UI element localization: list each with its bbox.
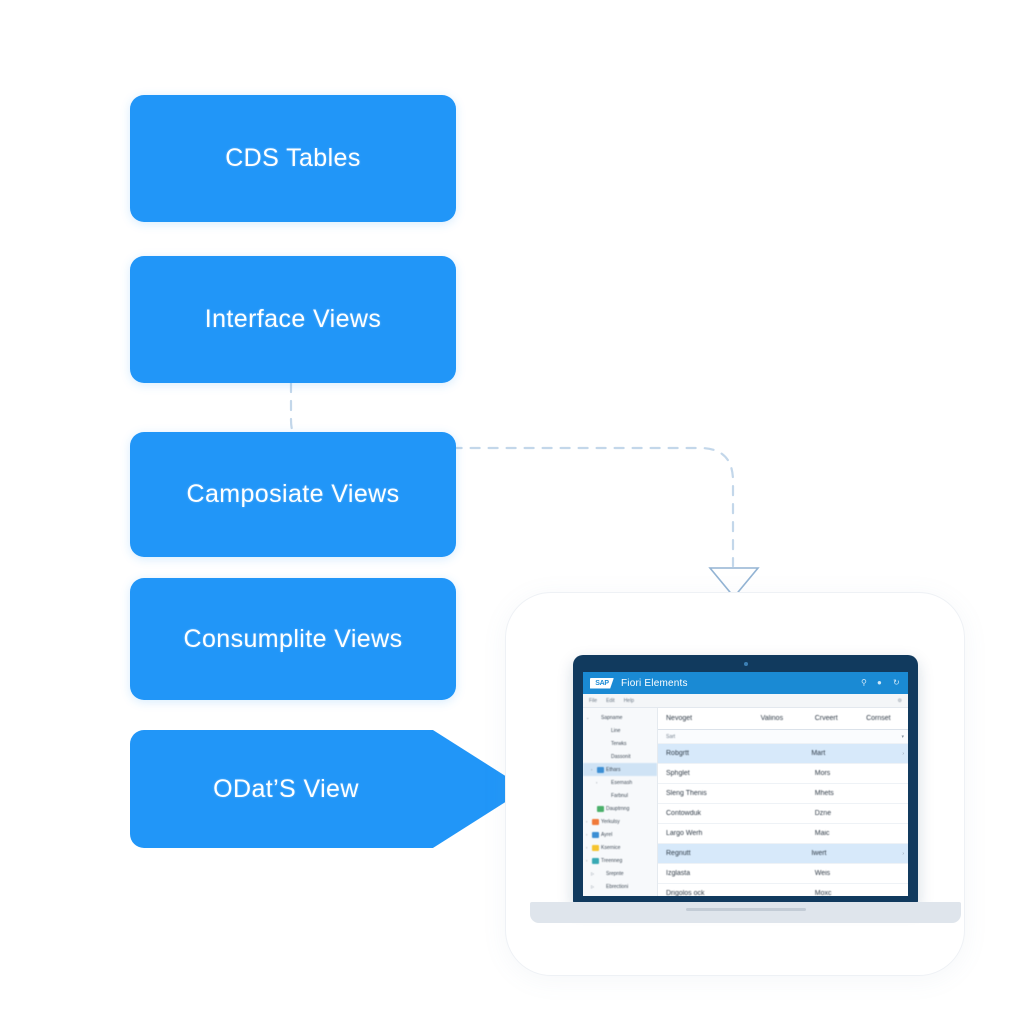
- tree-node-label: Ayrel: [601, 832, 612, 838]
- tree-node[interactable]: Terwks: [583, 737, 657, 750]
- tree-node[interactable]: Line: [583, 724, 657, 737]
- tree-node[interactable]: ›Ethars: [583, 763, 657, 776]
- settings-icon[interactable]: ⚙: [898, 698, 902, 704]
- tree-twisty-icon[interactable]: ›: [586, 819, 590, 824]
- tree-node-label: Farbnul: [611, 793, 628, 799]
- folder-icon: [597, 884, 604, 890]
- tree-node-label: Ebrectioni: [606, 884, 628, 890]
- column-header[interactable]: Valinos: [753, 715, 807, 722]
- tree-node[interactable]: ▷Srepnte: [583, 867, 657, 880]
- tree-node-label: Sapname: [601, 715, 622, 721]
- webcam-icon: [744, 662, 748, 666]
- laptop-mockup: SAP Fiori Elements ⚲ ● ↻ File Edit Help …: [573, 655, 918, 923]
- tree-node[interactable]: Farbnul: [583, 789, 657, 802]
- table-row[interactable]: Drigolos ockMoxc: [658, 884, 908, 896]
- menu-item-help[interactable]: Help: [624, 698, 634, 704]
- folder-icon: [602, 728, 609, 734]
- tree-node[interactable]: ›Yerkulsy: [583, 815, 657, 828]
- flow-box-odata-view[interactable]: ODat’S View: [130, 730, 526, 848]
- table-cell: Weis: [807, 870, 858, 877]
- laptop-lid: SAP Fiori Elements ⚲ ● ↻ File Edit Help …: [573, 655, 918, 904]
- folder-icon: [597, 871, 604, 877]
- tree-node[interactable]: ›Ayrel: [583, 828, 657, 841]
- folder-icon: [597, 767, 604, 773]
- row-chevron-icon[interactable]: ›: [902, 751, 904, 757]
- folder-icon: [592, 715, 599, 721]
- table-cell: Iwert: [803, 850, 853, 857]
- tree-node-label: Yerkulsy: [601, 819, 620, 825]
- table-cell: Izglasta: [658, 870, 753, 877]
- flow-box-interface-views[interactable]: Interface Views: [130, 256, 456, 383]
- table-row[interactable]: Sleng ThenisMhets: [658, 784, 908, 804]
- folder-icon: [592, 819, 599, 825]
- table-cell: Mhets: [807, 790, 858, 797]
- menu-item-edit[interactable]: Edit: [606, 698, 615, 704]
- tree-twisty-icon[interactable]: ▷: [591, 884, 595, 889]
- table-cell: Sleng Thenis: [658, 790, 753, 797]
- tree-node-label: Esernash: [611, 780, 632, 786]
- search-icon[interactable]: ⚲: [861, 679, 869, 687]
- filter-cell[interactable]: Sart: [658, 734, 750, 740]
- table-row[interactable]: SphgletMors: [658, 764, 908, 784]
- folder-icon: [592, 845, 599, 851]
- tree-twisty-icon[interactable]: ▷: [591, 871, 595, 876]
- table-cell: Drigolos ock: [658, 890, 753, 896]
- tree-twisty-icon[interactable]: ›: [586, 832, 590, 837]
- diagram-canvas: CDS Tables Interface Views Camposiate Vi…: [0, 0, 1024, 1024]
- table-body: Sart▾RobgrttMart›SphgletMorsSleng Thenis…: [658, 730, 908, 896]
- tree-node-label: Ethars: [606, 767, 620, 773]
- flow-box-label: Interface Views: [205, 305, 381, 334]
- tree-node-label: Line: [611, 728, 620, 734]
- table-header-row: NevogetValinosCrveertCornset: [658, 708, 908, 730]
- table-cell: Robgrtt: [658, 750, 750, 757]
- sap-logo-icon: SAP: [590, 678, 614, 689]
- tree-node[interactable]: ▷Ebrectioni: [583, 880, 657, 893]
- app-menu-bar: File Edit Help ⚙: [583, 694, 908, 708]
- table-row[interactable]: Largo WerhMaic: [658, 824, 908, 844]
- folder-icon: [602, 780, 609, 786]
- tree-node[interactable]: Dassonit: [583, 750, 657, 763]
- flow-box-label: CDS Tables: [225, 144, 361, 173]
- tree-twisty-icon[interactable]: ⌄: [586, 715, 590, 720]
- folder-icon: [597, 806, 604, 812]
- folder-icon: [602, 754, 609, 760]
- tree-node-label: Dassonit: [611, 754, 630, 760]
- tree-node[interactable]: ›Treenneg: [583, 854, 657, 867]
- column-header[interactable]: Cornset: [858, 715, 908, 722]
- tree-twisty-icon[interactable]: ›: [586, 858, 590, 863]
- folder-icon: [592, 832, 599, 838]
- app-body: ⌄SapnameLineTerwksDassonit›Ethars›Eserna…: [583, 708, 908, 896]
- table-row[interactable]: ContowdukDzne: [658, 804, 908, 824]
- folder-icon: [602, 793, 609, 799]
- flow-box-label: ODat’S View: [213, 775, 359, 804]
- table-row[interactable]: IzglastaWeis: [658, 864, 908, 884]
- tree-node[interactable]: ⌄Sapname: [583, 711, 657, 724]
- laptop-base: [530, 902, 961, 923]
- table-cell: Moxc: [807, 890, 858, 896]
- tree-twisty-icon[interactable]: ›: [586, 845, 590, 850]
- data-table: NevogetValinosCrveertCornset Sart▾Robgrt…: [658, 708, 908, 896]
- chevron-down-icon[interactable]: ▾: [901, 734, 904, 740]
- refresh-icon[interactable]: ↻: [893, 679, 901, 687]
- tree-node-label: Srepnte: [606, 871, 624, 877]
- table-cell: Mart: [803, 750, 853, 757]
- flow-box-consumption-views[interactable]: Consumplite Views: [130, 578, 456, 700]
- flow-box-cds-tables[interactable]: CDS Tables: [130, 95, 456, 222]
- app-header: SAP Fiori Elements ⚲ ● ↻: [583, 672, 908, 694]
- row-chevron-icon[interactable]: ›: [902, 851, 904, 857]
- flow-box-composite-views[interactable]: Camposiate Views: [130, 432, 456, 557]
- table-cell: Largo Werh: [658, 830, 753, 837]
- menu-item-file[interactable]: File: [589, 698, 597, 704]
- header-icon-group: ⚲ ● ↻: [861, 679, 901, 687]
- tree-node-label: Terwks: [611, 741, 627, 747]
- app-title: Fiori Elements: [621, 678, 688, 689]
- table-row[interactable]: RegnuttIwert›: [658, 844, 908, 864]
- table-cell: Mors: [807, 770, 858, 777]
- table-cell: Regnutt: [658, 850, 750, 857]
- table-row[interactable]: RobgrttMart›: [658, 744, 908, 764]
- table-filter-row[interactable]: Sart▾: [658, 730, 908, 744]
- column-header[interactable]: Nevoget: [658, 715, 753, 722]
- tree-twisty-icon[interactable]: ›: [591, 767, 595, 772]
- table-cell: Sphglet: [658, 770, 753, 777]
- folder-icon: [602, 741, 609, 747]
- sidebar-tree[interactable]: ⌄SapnameLineTerwksDassonit›Ethars›Eserna…: [583, 708, 658, 896]
- folder-icon: [592, 858, 599, 864]
- tree-twisty-icon[interactable]: ›: [596, 780, 600, 785]
- tree-node-label: Dauptrnng: [606, 806, 629, 812]
- flow-box-label: Camposiate Views: [187, 480, 400, 509]
- tree-node[interactable]: ›Esernash: [583, 776, 657, 789]
- tree-node[interactable]: Dauptrnng: [583, 802, 657, 815]
- flow-box-label: Consumplite Views: [184, 625, 403, 654]
- tree-node-label: Ksernice: [601, 845, 620, 851]
- table-cell: Contowduk: [658, 810, 753, 817]
- table-cell: Dzne: [807, 810, 858, 817]
- tree-node-label: Treenneg: [601, 858, 622, 864]
- tree-node[interactable]: ›Ksernice: [583, 841, 657, 854]
- table-cell: Maic: [807, 830, 858, 837]
- laptop-screen: SAP Fiori Elements ⚲ ● ↻ File Edit Help …: [583, 672, 908, 896]
- user-icon[interactable]: ●: [877, 679, 885, 687]
- column-header[interactable]: Crveert: [807, 715, 858, 722]
